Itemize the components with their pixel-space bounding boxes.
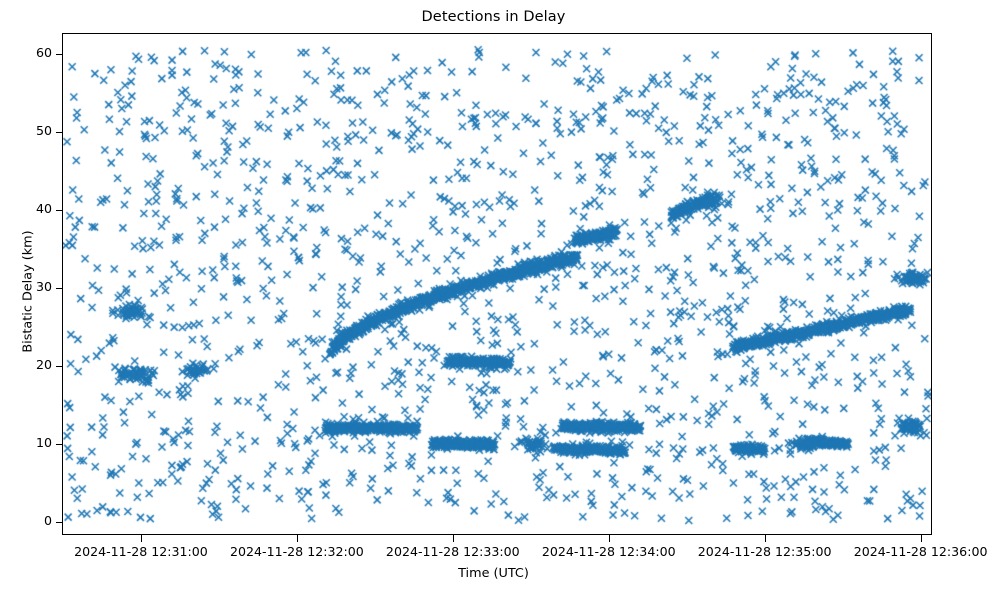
x-tick-mark bbox=[765, 535, 766, 542]
x-tick-label: 2024-11-28 12:33:00 bbox=[386, 545, 520, 559]
y-tick-label: 30 bbox=[36, 281, 52, 294]
scatter-plot-canvas bbox=[63, 34, 931, 534]
y-tick-mark bbox=[56, 522, 63, 523]
y-tick-mark bbox=[56, 54, 63, 55]
x-tick-label: 2024-11-28 12:31:00 bbox=[74, 545, 208, 559]
x-tick-mark bbox=[921, 535, 922, 542]
y-axis-label: Bistatic Delay (km) bbox=[21, 212, 36, 372]
y-tick-label: 40 bbox=[36, 203, 52, 216]
y-tick-label: 10 bbox=[36, 437, 52, 450]
chart-title: Detections in Delay bbox=[0, 9, 987, 25]
y-tick-label: 50 bbox=[36, 125, 52, 138]
y-tick-mark bbox=[56, 210, 63, 211]
x-tick-mark bbox=[453, 535, 454, 542]
y-tick-label: 20 bbox=[36, 359, 52, 372]
x-tick-mark bbox=[609, 535, 610, 542]
y-tick-mark bbox=[56, 444, 63, 445]
x-axis-label: Time (UTC) bbox=[0, 566, 987, 581]
y-tick-label: 60 bbox=[36, 47, 52, 60]
x-tick-label: 2024-11-28 12:32:00 bbox=[230, 545, 364, 559]
x-tick-mark bbox=[297, 535, 298, 542]
y-tick-label: 0 bbox=[44, 515, 52, 528]
y-tick-mark bbox=[56, 132, 63, 133]
x-tick-mark bbox=[141, 535, 142, 542]
y-tick-mark bbox=[56, 288, 63, 289]
x-tick-label: 2024-11-28 12:35:00 bbox=[698, 545, 832, 559]
x-tick-label: 2024-11-28 12:36:00 bbox=[854, 545, 987, 559]
matplotlib-figure: Detections in Delay 0102030405060 2024-1… bbox=[0, 0, 987, 590]
plot-axes-area bbox=[62, 33, 932, 535]
x-tick-label: 2024-11-28 12:34:00 bbox=[542, 545, 676, 559]
y-tick-mark bbox=[56, 366, 63, 367]
